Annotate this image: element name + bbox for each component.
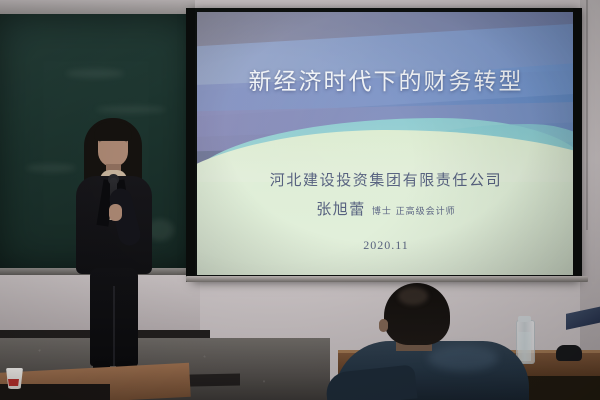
projected-slide: 新经济时代下的财务转型 河北建设投资集团有限责任公司 张旭蕾博士 正高级会计师 …: [197, 12, 575, 275]
trouser-seam: [113, 286, 115, 366]
slide-date: 2020.11: [197, 238, 575, 253]
chalk-smudge: [96, 106, 166, 113]
slide-presenter-line: 张旭蕾博士 正高级会计师: [197, 198, 575, 219]
screen-right-edge: [573, 8, 582, 282]
hair-highlight: [398, 287, 428, 305]
audience-member: [346, 283, 526, 400]
screen-left-edge: [186, 8, 195, 282]
presentation-photo-scene: 新经济时代下的财务转型 河北建设投资集团有限责任公司 张旭蕾博士 正高级会计师 …: [0, 0, 600, 400]
screen-bottom-bar: [186, 276, 588, 282]
desk-dark-object: [556, 345, 582, 361]
slide-green-ground: [197, 182, 575, 275]
speaker-hand: [109, 204, 122, 221]
speaker-figure: [60, 118, 170, 388]
wall-seam: [586, 0, 588, 230]
speaker-fringe: [94, 122, 132, 141]
slide-organization: 河北建设投资集团有限责任公司: [197, 169, 575, 190]
presenter-credentials: 博士 正高级会计师: [372, 207, 456, 217]
slide-title: 新经济时代下的财务转型: [197, 62, 575, 96]
glasses-icon: [99, 140, 127, 148]
chalk-smudge: [66, 69, 124, 78]
paper-cup-band: [8, 379, 19, 386]
jacket-highlight: [428, 345, 498, 371]
audience-ear: [379, 319, 388, 332]
presenter-name: 张旭蕾: [316, 200, 366, 218]
right-wall: [580, 0, 600, 400]
